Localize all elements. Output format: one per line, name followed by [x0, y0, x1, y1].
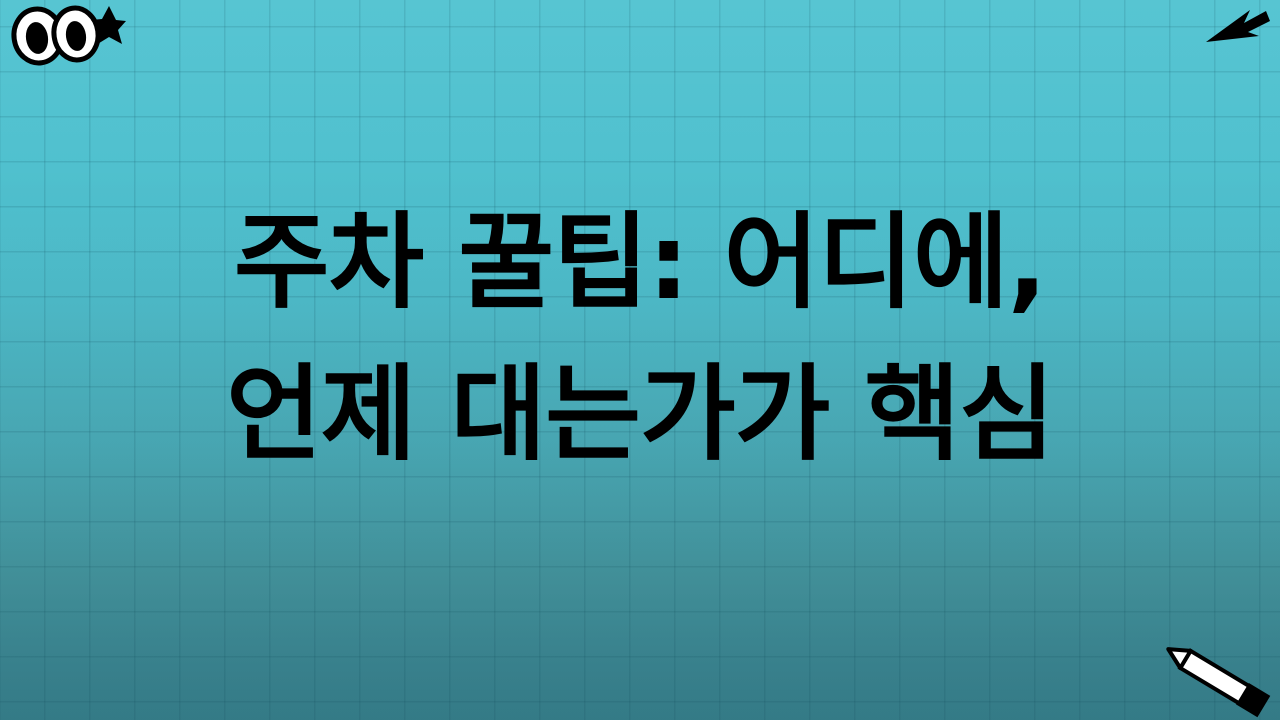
page-title: 주차 꿀팁: 어디에, 언제 대는가가 핵심 — [0, 186, 1280, 490]
title-line-1: 주차 꿀팁: 어디에, — [0, 186, 1280, 338]
slide-canvas: 주차 꿀팁: 어디에, 언제 대는가가 핵심 — [0, 0, 1280, 720]
title-line-2: 언제 대는가가 핵심 — [0, 338, 1280, 490]
googly-eyes-icon — [6, 0, 126, 70]
pencil-icon — [1158, 640, 1278, 718]
arrow-cursor-icon — [1202, 2, 1272, 52]
